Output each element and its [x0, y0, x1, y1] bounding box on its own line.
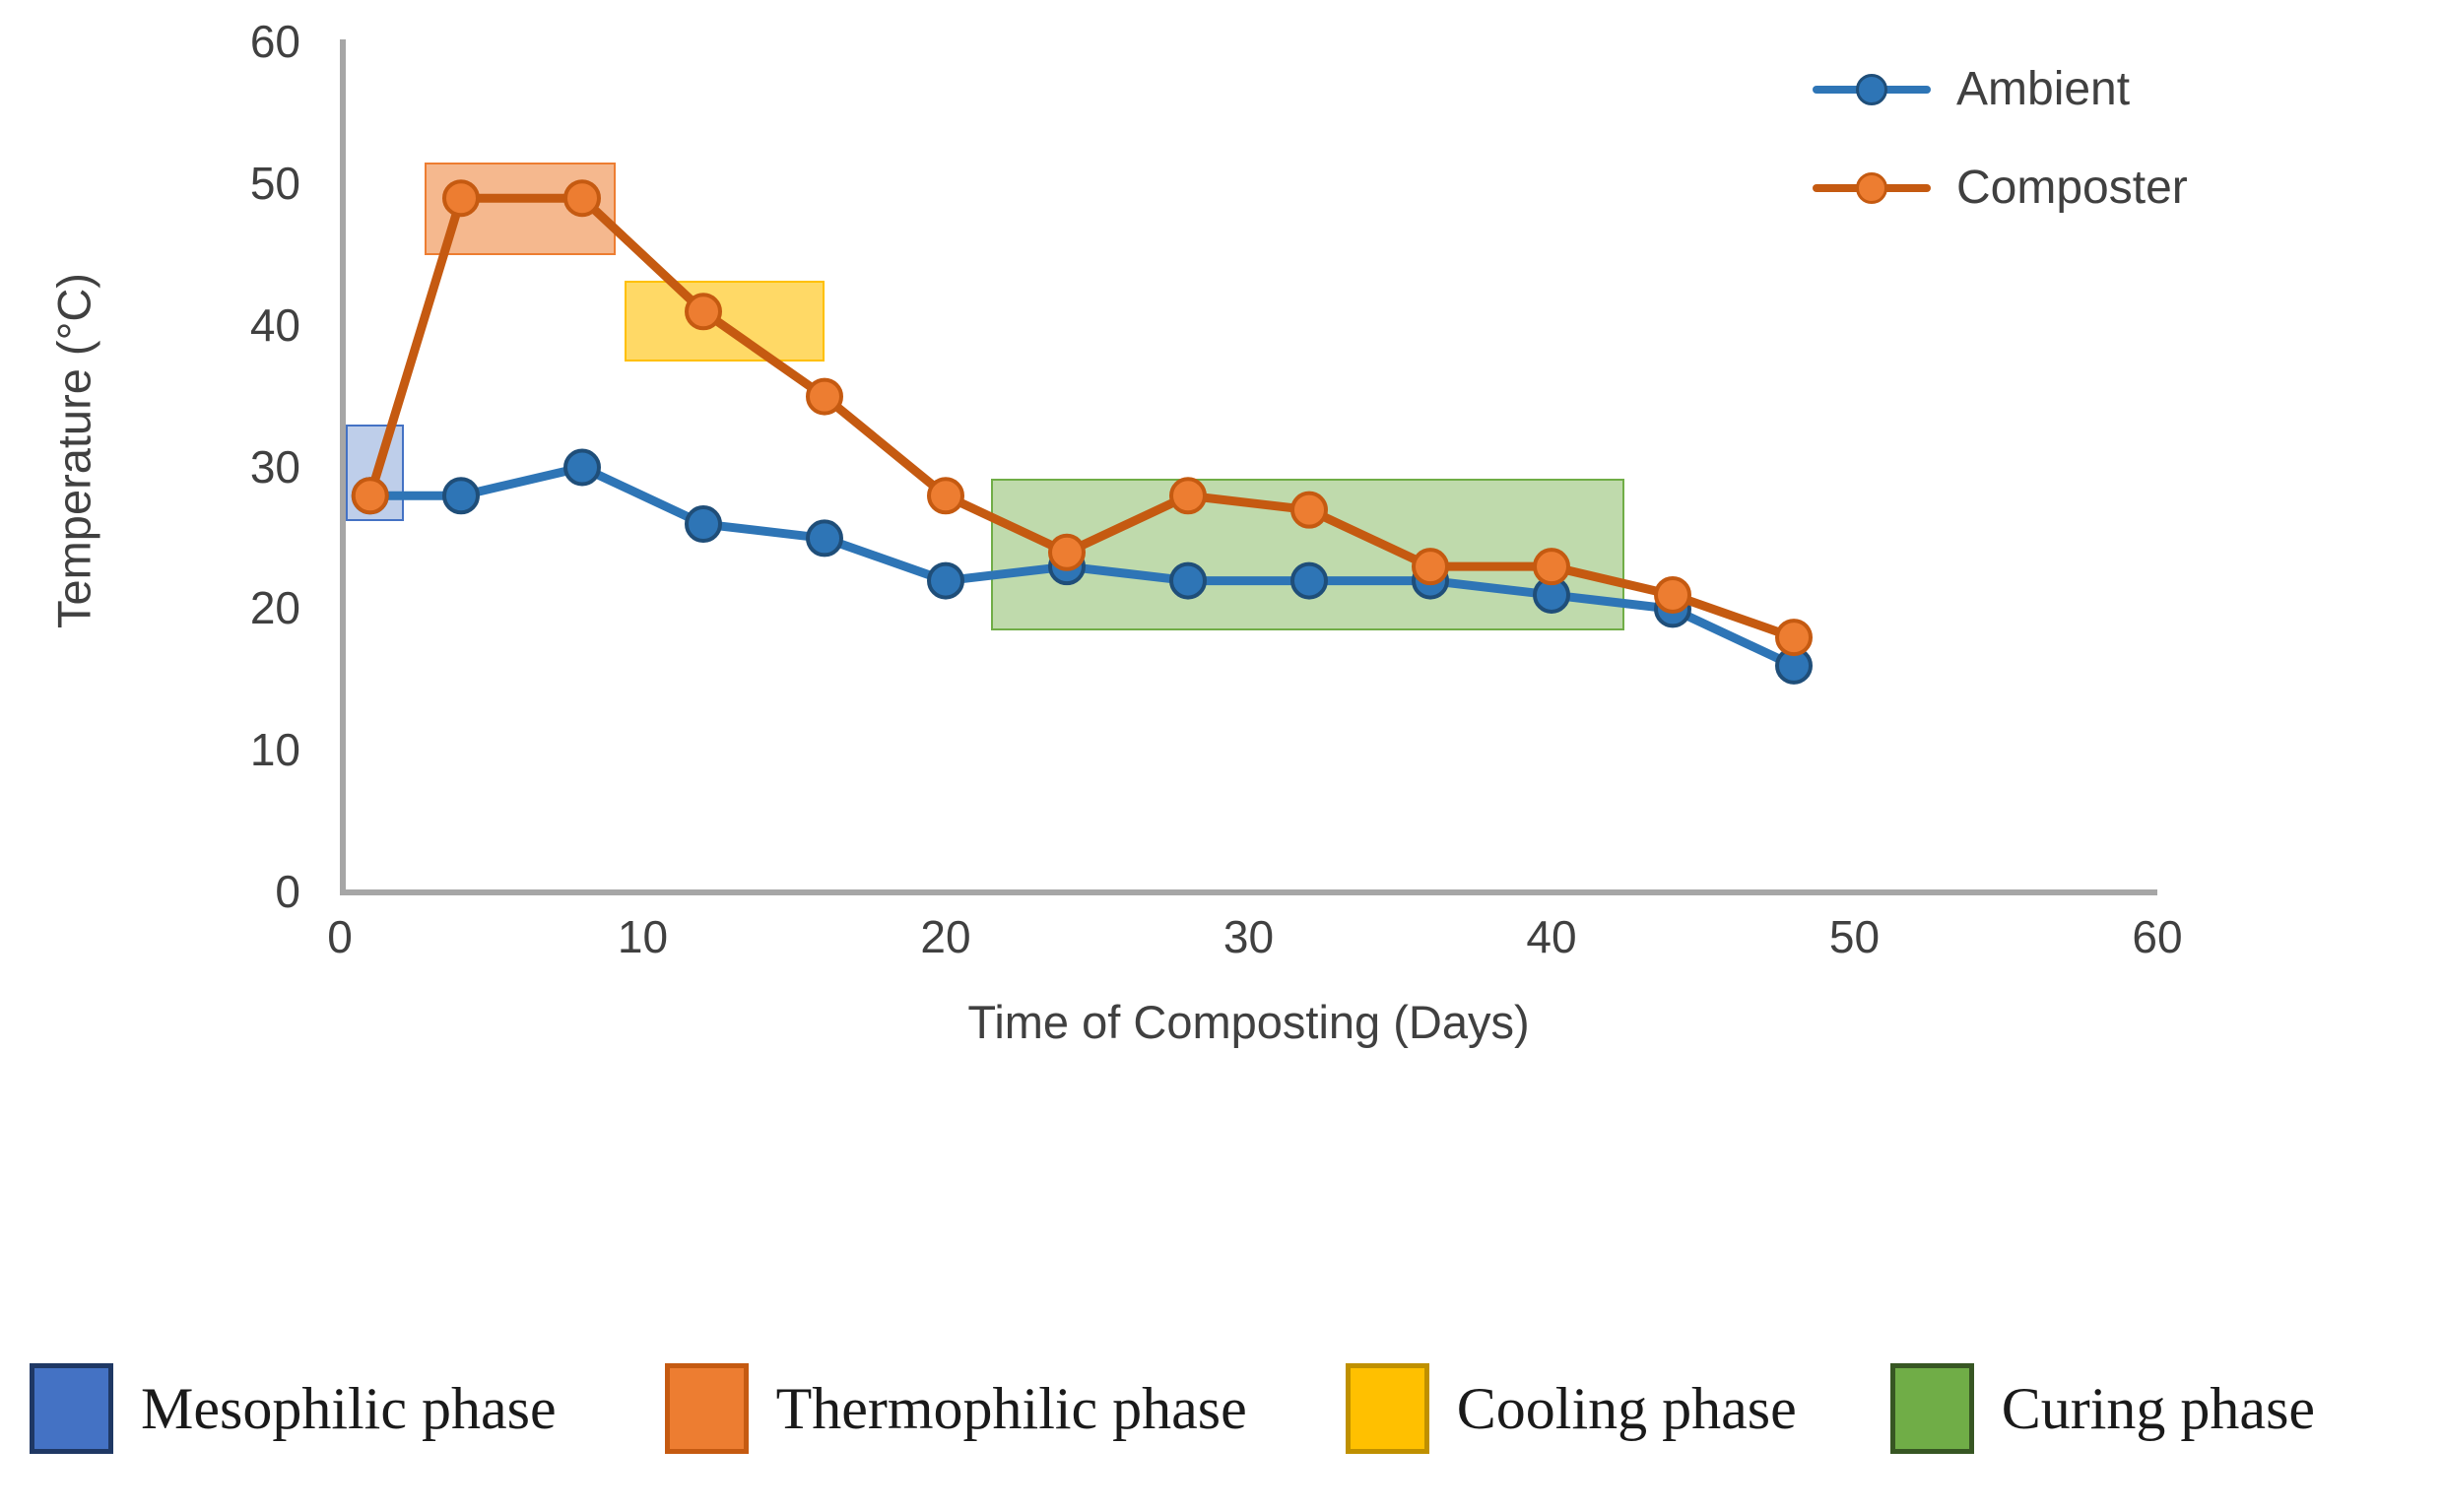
- data-point-composter-12: [687, 295, 720, 328]
- phase-legend-item-cooling[interactable]: Cooling phase: [1346, 1363, 1797, 1454]
- legend-label-ambient: Ambient: [1956, 62, 2130, 116]
- chart-legend: Ambient Composter: [1813, 39, 2325, 236]
- data-point-composter-28: [1171, 479, 1205, 512]
- data-point-composter-44: [1656, 578, 1689, 612]
- phase-label-thermophilic: Thermophilic phase: [776, 1375, 1247, 1443]
- data-point-composter-4: [444, 181, 478, 215]
- data-point-ambient-16: [808, 521, 841, 555]
- data-point-ambient-4: [444, 479, 478, 512]
- phase-label-mesophilic: Mesophilic phase: [141, 1375, 557, 1443]
- data-point-composter-16: [808, 380, 841, 414]
- phase-swatch-thermophilic: [665, 1363, 749, 1454]
- phase-label-curing: Curing phase: [2002, 1375, 2315, 1443]
- data-point-ambient-12: [687, 507, 720, 541]
- phase-swatch-mesophilic: [30, 1363, 113, 1454]
- chart-plot-area: 0102030405060 0102030405060 Temperature …: [0, 0, 2444, 1103]
- data-point-composter-20: [929, 479, 962, 512]
- data-point-ambient-28: [1171, 564, 1205, 598]
- data-point-composter-32: [1292, 493, 1326, 527]
- data-point-composter-48: [1777, 621, 1811, 654]
- composting-temperature-figure: 0102030405060 0102030405060 Temperature …: [0, 0, 2444, 1512]
- data-point-composter-1: [354, 479, 387, 512]
- data-point-composter-36: [1414, 550, 1447, 583]
- phase-legend-item-mesophilic[interactable]: Mesophilic phase: [30, 1363, 557, 1454]
- data-point-ambient-8: [565, 451, 599, 485]
- phase-legend-item-curing[interactable]: Curing phase: [1890, 1363, 2315, 1454]
- data-point-composter-40: [1535, 550, 1568, 583]
- legend-line-marker-ambient: [1813, 72, 1931, 105]
- phase-swatch-curing: [1890, 1363, 1974, 1454]
- data-point-composter-8: [565, 181, 599, 215]
- data-point-composter-24: [1050, 536, 1084, 569]
- data-point-ambient-20: [929, 564, 962, 598]
- legend-line-marker-composter: [1813, 170, 1931, 204]
- legend-item-ambient[interactable]: Ambient: [1813, 39, 2325, 138]
- phase-swatch-cooling: [1346, 1363, 1429, 1454]
- phase-legend-item-thermophilic[interactable]: Thermophilic phase: [665, 1363, 1247, 1454]
- data-point-ambient-32: [1292, 564, 1326, 598]
- phase-label-cooling: Cooling phase: [1457, 1375, 1797, 1443]
- legend-label-composter: Composter: [1956, 161, 2188, 215]
- phase-legend: Mesophilic phase Thermophilic phase Cool…: [0, 1349, 2444, 1468]
- legend-item-composter[interactable]: Composter: [1813, 138, 2325, 236]
